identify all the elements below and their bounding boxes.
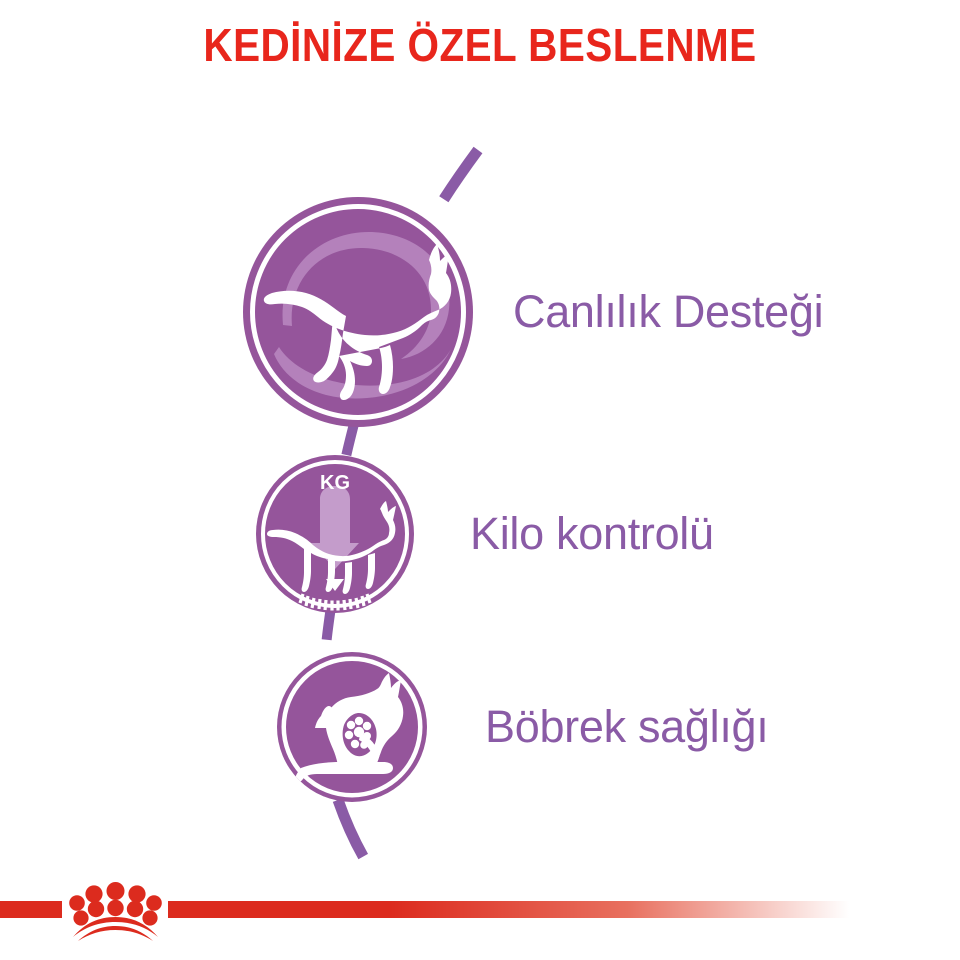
royal-canin-crown-logo [63, 879, 168, 941]
badge-inner-ring [263, 462, 407, 606]
footer-bar-right [168, 901, 960, 918]
benefit-label-kidney-health: Böbrek sağlığı [485, 701, 768, 753]
product-benefits-panel: KEDİNİZE ÖZEL BESLENME [0, 0, 960, 960]
badge-inner-ring [284, 659, 420, 795]
benefit-item-kidney-health[interactable]: Böbrek sağlığı [277, 652, 768, 802]
footer-brand-bar [0, 860, 960, 960]
kidney-cat-icon [277, 652, 427, 802]
benefit-item-vitality[interactable]: Canlılık Desteği [243, 197, 823, 427]
badge-inner-ring [252, 206, 464, 418]
benefit-item-weight-control[interactable]: KG [256, 455, 714, 613]
benefit-label-vitality: Canlılık Desteği [513, 286, 823, 338]
weight-scale-cat-icon: KG [256, 455, 414, 613]
walking-cat-icon [243, 197, 473, 427]
benefit-label-weight-control: Kilo kontrolü [470, 508, 714, 560]
footer-bar-left [0, 901, 62, 918]
benefits-list: Canlılık Desteği KG [0, 0, 960, 860]
